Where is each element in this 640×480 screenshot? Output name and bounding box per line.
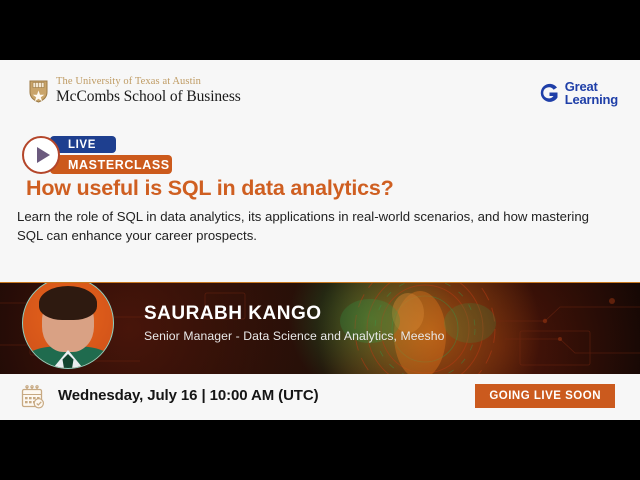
calendar-icon (20, 385, 45, 410)
video-frame: The University of Texas at Austin McComb… (0, 0, 640, 480)
university-line2: McCombs School of Business (56, 89, 241, 105)
live-pill: LIVE (50, 136, 116, 153)
avatar-hair (39, 286, 97, 320)
slide-header: The University of Texas at Austin McComb… (0, 60, 640, 118)
brand-word1: Great (565, 80, 618, 93)
speaker-role: Senior Manager - Data Science and Analyt… (144, 329, 444, 343)
event-datetime: Wednesday, July 16 | 10:00 AM (UTC) (58, 387, 319, 404)
great-learning-g-icon (538, 82, 560, 104)
great-learning-wordmark: Great Learning (565, 80, 618, 107)
live-masterclass-badge: LIVE MASTERCLASS (22, 134, 172, 176)
slide-stage: The University of Texas at Austin McComb… (0, 60, 640, 420)
university-line1: The University of Texas at Austin (56, 77, 241, 88)
university-logo: The University of Texas at Austin McComb… (28, 77, 241, 104)
speaker-avatar (22, 282, 114, 369)
university-wordmark: The University of Texas at Austin McComb… (56, 77, 241, 104)
badge-pills: LIVE MASTERCLASS (50, 136, 172, 174)
slide-footer: Wednesday, July 16 | 10:00 AM (UTC) GOIN… (0, 374, 640, 420)
brand-word2: Learning (565, 93, 618, 106)
play-triangle-icon (37, 147, 50, 163)
page-title: How useful is SQL in data analytics? (26, 176, 394, 201)
page-subtitle: Learn the role of SQL in data analytics,… (17, 207, 617, 245)
play-button-icon[interactable] (22, 136, 60, 174)
speaker-banner: SAURABH KANGO Senior Manager - Data Scie… (0, 282, 640, 374)
masterclass-pill: MASTERCLASS (50, 155, 172, 174)
speaker-name: SAURABH KANGO (144, 303, 444, 325)
great-learning-logo: Great Learning (538, 80, 618, 107)
going-live-soon-button[interactable]: GOING LIVE SOON (475, 384, 615, 408)
speaker-info: SAURABH KANGO Senior Manager - Data Scie… (144, 303, 444, 343)
ut-shield-icon (28, 78, 49, 103)
